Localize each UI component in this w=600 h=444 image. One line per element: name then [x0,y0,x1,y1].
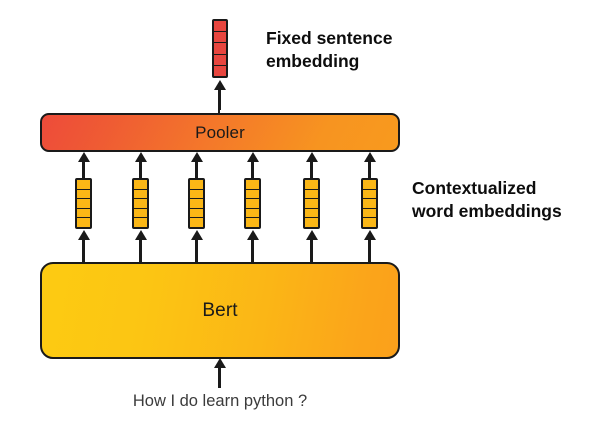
arrow-bert-to-word-6 [368,238,371,262]
vector-cell [134,180,147,190]
arrow-word-to-pooler-5 [310,160,313,178]
vector-cell [363,190,376,200]
pooler-label: Pooler [195,124,245,141]
vector-cell [190,199,203,209]
arrow-bert-to-word-4 [251,238,254,262]
bert-label: Bert [202,301,237,320]
arrow-word-to-pooler-2 [139,160,142,178]
vector-cell [305,218,318,227]
sentence-embedding-vector [212,19,228,78]
vector-cell [246,218,259,227]
fixed-sentence-embedding-label: Fixed sentence embedding [266,27,456,73]
word-embedding-vector-6 [361,178,378,229]
vector-cell [190,218,203,227]
word-embedding-vector-3 [188,178,205,229]
vector-cell [77,199,90,209]
input-sentence-label: How I do learn python ? [0,392,440,411]
vector-cell [190,209,203,219]
arrow-input-to-bert [218,366,221,388]
arrow-pooler-to-sentence-embedding [218,88,221,110]
vector-cell [246,180,259,190]
vector-cell [246,209,259,219]
vector-cell [77,180,90,190]
vector-cell [214,21,226,32]
word-embedding-vector-5 [303,178,320,229]
vector-cell [363,209,376,219]
vector-cell [305,190,318,200]
arrow-word-to-pooler-4 [251,160,254,178]
vector-cell [214,43,226,54]
vector-cell [305,199,318,209]
word-embedding-vector-2 [132,178,149,229]
contextualized-word-embeddings-label: Contextualized word embeddings [412,177,597,223]
arrow-word-to-pooler-3 [195,160,198,178]
vector-cell [134,209,147,219]
vector-cell [246,190,259,200]
arrow-word-to-pooler-6 [368,160,371,178]
vector-cell [134,218,147,227]
diagram-canvas: Fixed sentence embedding Pooler [0,0,600,444]
pooler-block: Pooler [40,113,400,152]
vector-cell [77,209,90,219]
arrow-bert-to-word-1 [82,238,85,262]
vector-cell [214,55,226,66]
vector-cell [363,199,376,209]
vector-cell [246,199,259,209]
vector-cell [305,180,318,190]
vector-cell [190,190,203,200]
word-embedding-vector-4 [244,178,261,229]
vector-cell [214,66,226,76]
vector-cell [134,190,147,200]
word-embedding-vector-1 [75,178,92,229]
vector-cell [134,199,147,209]
vector-cell [363,218,376,227]
vector-cell [214,32,226,43]
vector-cell [77,218,90,227]
vector-cell [190,180,203,190]
vector-cell [77,190,90,200]
vector-cell [363,180,376,190]
arrow-bert-to-word-2 [139,238,142,262]
bert-block: Bert [40,262,400,359]
vector-cell [305,209,318,219]
arrow-bert-to-word-3 [195,238,198,262]
arrow-word-to-pooler-1 [82,160,85,178]
arrow-bert-to-word-5 [310,238,313,262]
